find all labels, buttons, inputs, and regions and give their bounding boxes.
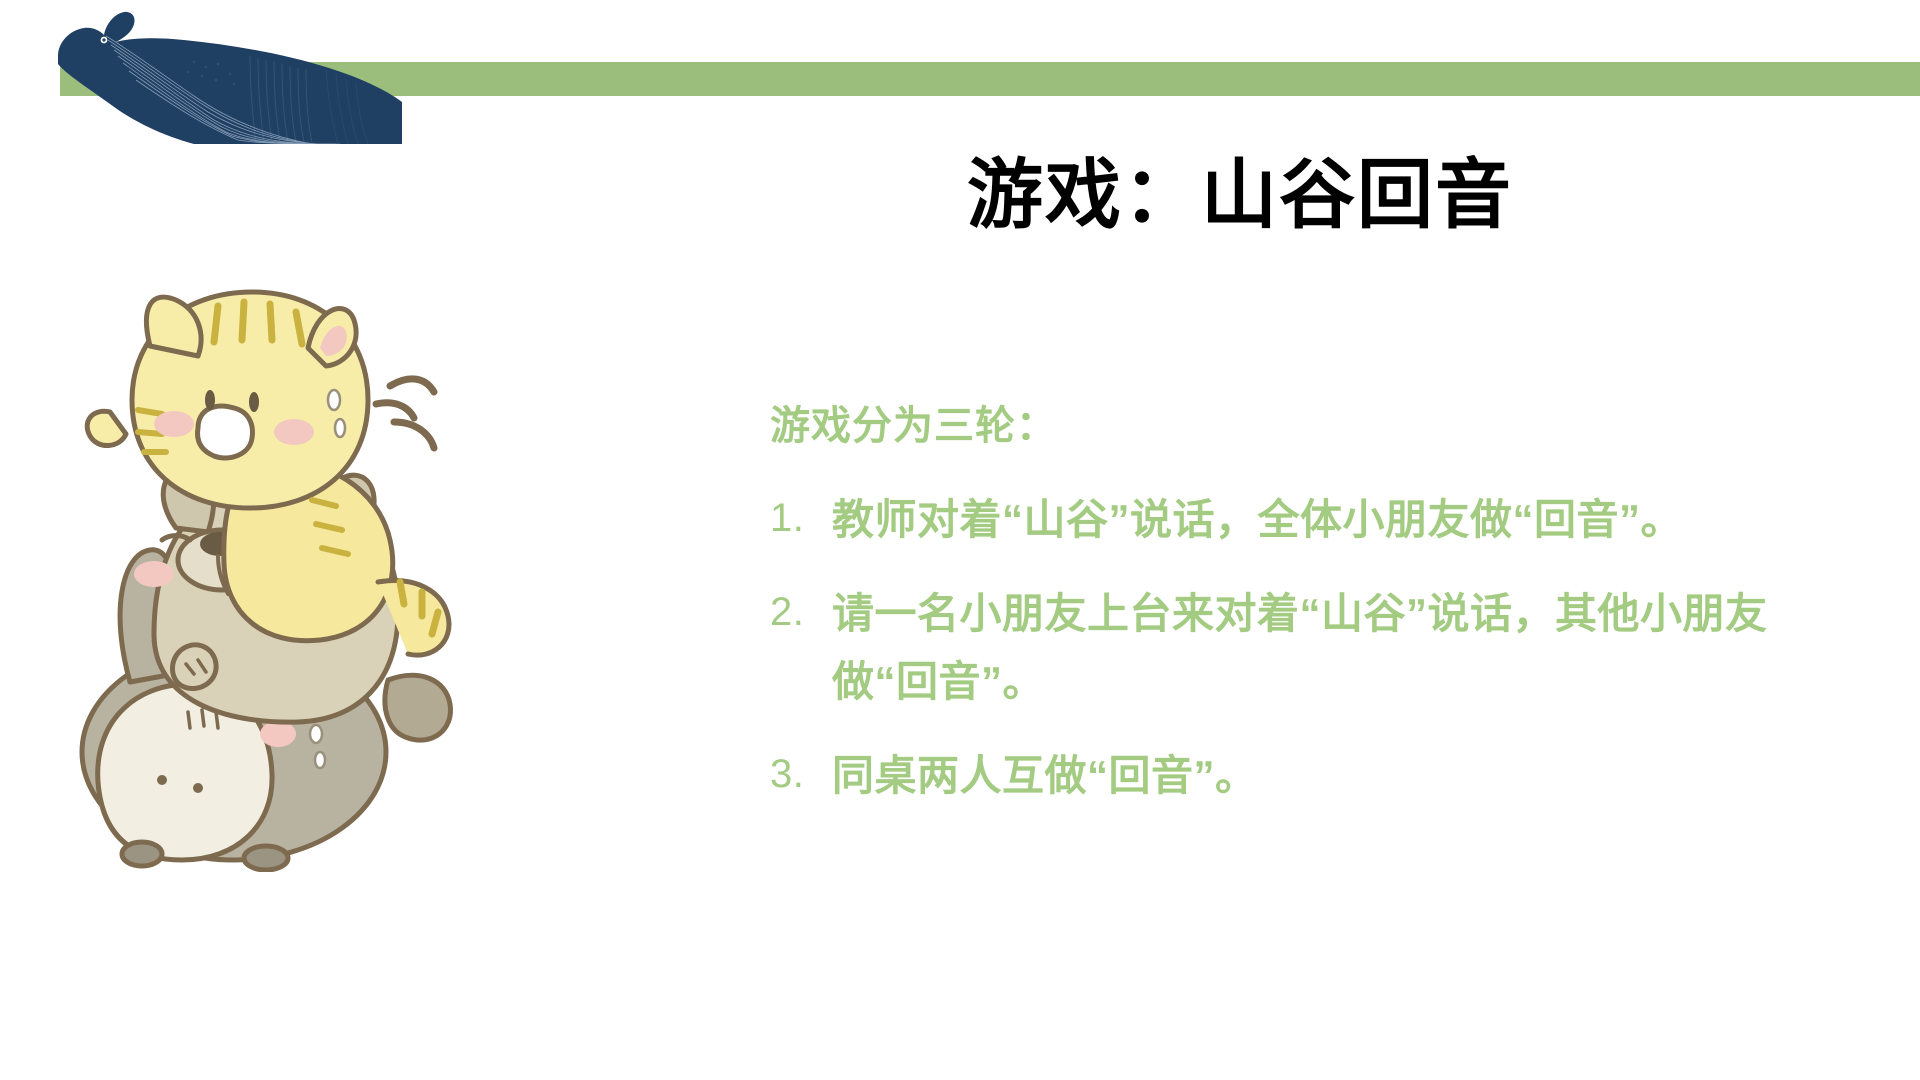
steps-list: 1. 教师对着“山谷”说话，全体小朋友做“回音”。 2. 请一名小朋友上台来对着… (770, 486, 1830, 810)
content-block: 游戏分为三轮： 1. 教师对着“山谷”说话，全体小朋友做“回音”。 2. 请一名… (770, 400, 1830, 836)
list-item-number: 1. (770, 486, 832, 551)
list-item-text: 同桌两人互做“回音”。 (832, 742, 1830, 810)
list-item-text: 请一名小朋友上台来对着“山谷”说话，其他小朋友做“回音”。 (832, 580, 1830, 716)
whale-icon (44, 4, 404, 144)
stacked-animals-illustration (58, 282, 508, 872)
intro-text: 游戏分为三轮： (770, 400, 1830, 452)
slide-canvas: 游戏：山谷回音 游戏分为三轮： 1. 教师对着“山谷”说话，全体小朋友做“回音”… (0, 0, 1920, 1080)
page-title: 游戏：山谷回音 (620, 150, 1860, 240)
list-item: 1. 教师对着“山谷”说话，全体小朋友做“回音”。 (770, 486, 1830, 554)
list-item: 3. 同桌两人互做“回音”。 (770, 742, 1830, 810)
list-item-text: 教师对着“山谷”说话，全体小朋友做“回音”。 (832, 486, 1830, 554)
list-item: 2. 请一名小朋友上台来对着“山谷”说话，其他小朋友做“回音”。 (770, 580, 1830, 716)
list-item-number: 3. (770, 742, 832, 807)
list-item-number: 2. (770, 580, 832, 645)
